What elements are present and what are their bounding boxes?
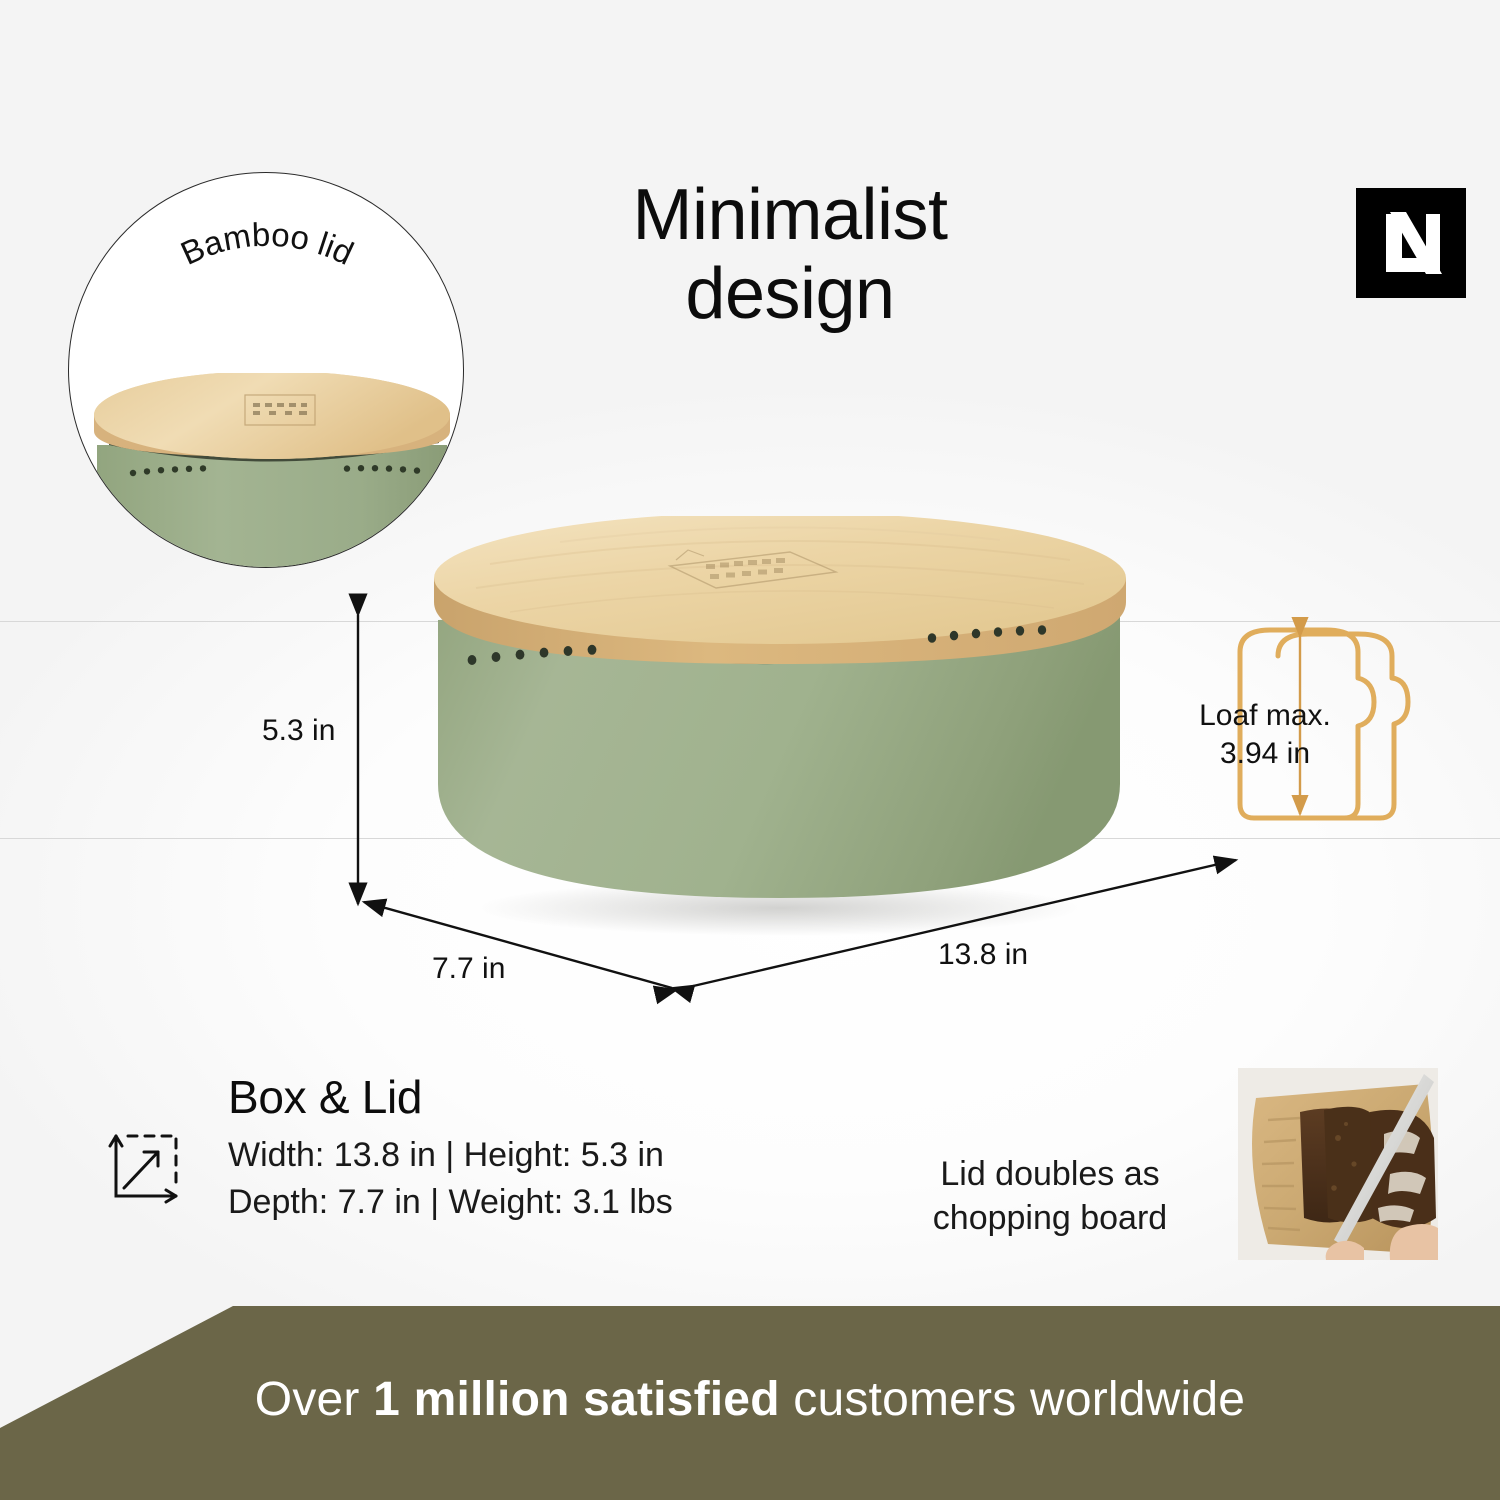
- loaf-max-line1: Loaf max.: [1185, 697, 1345, 735]
- inset-product-image: [68, 373, 464, 568]
- banner-highlight: 1 million satisfied: [373, 1373, 780, 1426]
- banner-prefix: Over: [255, 1373, 373, 1426]
- spec-title: Box & Lid: [228, 1070, 673, 1124]
- dimension-height-label: 5.3 in: [262, 714, 335, 748]
- spec-line-depth-weight: Depth: 7.7 in | Weight: 3.1 lbs: [228, 1179, 673, 1226]
- dimension-depth-label: 7.7 in: [432, 952, 505, 986]
- banner-text: Over 1 million satisfied customers world…: [0, 1372, 1500, 1427]
- page-title-line1: Minimalist: [440, 176, 1140, 255]
- spec-line-width-height: Width: 13.8 in | Height: 5.3 in: [228, 1132, 673, 1179]
- bamboo-lid-inset: Bamboo lid 0.79 in: [68, 172, 464, 568]
- bread-cutting-photo: [1238, 1068, 1438, 1260]
- brand-logo: [1356, 188, 1466, 298]
- dimensions-expand-icon: [106, 1128, 184, 1206]
- svg-text:Bamboo lid: Bamboo lid: [175, 216, 359, 272]
- page-title-line2: design: [440, 255, 1140, 334]
- chopping-board-line2: chopping board: [890, 1196, 1210, 1240]
- page-title: Minimalist design: [440, 176, 1140, 334]
- product-image-bread-box: [420, 516, 1160, 936]
- loaf-max-label: Loaf max. 3.94 in: [1185, 697, 1345, 774]
- chopping-board-line1: Lid doubles as: [890, 1152, 1210, 1196]
- banner-suffix: customers worldwide: [780, 1373, 1245, 1426]
- dimension-width-label: 13.8 in: [938, 938, 1028, 972]
- chopping-board-feature-label: Lid doubles as chopping board: [890, 1152, 1210, 1240]
- loaf-max-line2: 3.94 in: [1185, 735, 1345, 773]
